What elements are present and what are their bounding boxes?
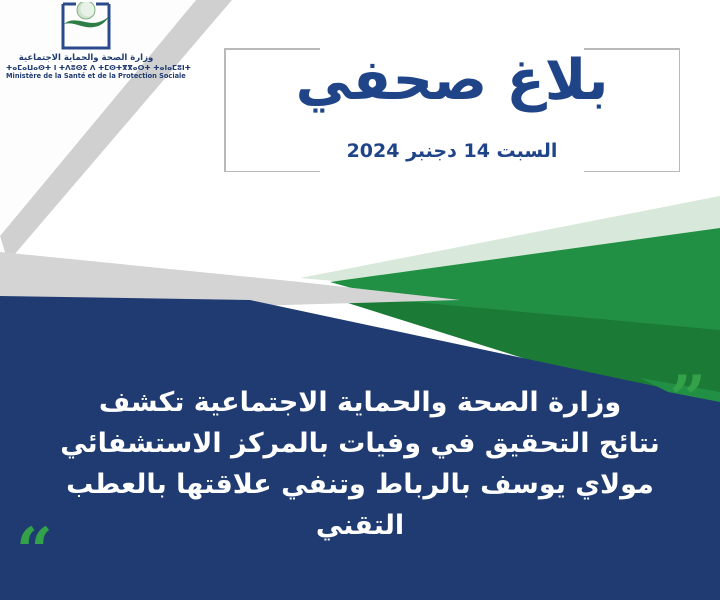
quote-mark-close: ” xyxy=(669,368,706,432)
headline-text: وزارة الصحة والحماية الاجتماعية تكشف نتا… xyxy=(0,382,720,546)
quote-mark-open: “ xyxy=(16,520,53,584)
headline-line-2: نتائج التحقيق في وفيات بالمركز الاستشفائ… xyxy=(34,423,686,464)
headline-line-3: مولاي يوسف بالرباط وتنفي علاقتها بالعطب xyxy=(34,464,686,505)
headline-line-4: التقني xyxy=(34,505,686,546)
title-frame: بلاغ صحفي السبت 14 دجنبر 2024 xyxy=(224,48,680,172)
frame-border-bottom-right xyxy=(584,171,680,173)
frame-border-bottom-left xyxy=(224,171,320,173)
press-release-title: بلاغ صحفي xyxy=(224,52,680,111)
ministry-health-emblem-icon xyxy=(43,2,129,52)
logo-tifinagh-name: ⵜⴰⵎⴰⵡⴰⵙⵜ ⵏ ⵜⴷⵓⵙⵉ ⴷ ⵜⵎⵙⵜⴳⴳⴰⵔⵜ ⵜⴰⵏⴰⵎⵓⵏⵜ xyxy=(6,64,166,73)
logo-french-name: Ministère de la Santé et de la Protectio… xyxy=(6,72,166,80)
ministry-logo: وزارة الصحة والحماية الاجتماعية ⵜⴰⵎⴰⵡⴰⵙⵜ… xyxy=(6,2,166,81)
bottom-white-edge xyxy=(0,600,720,608)
headline-line-1: وزارة الصحة والحماية الاجتماعية تكشف xyxy=(34,382,686,423)
press-release-date: السبت 14 دجنبر 2024 xyxy=(224,140,680,162)
press-release-poster: وزارة الصحة والحماية الاجتماعية ⵜⴰⵎⴰⵡⴰⵙⵜ… xyxy=(0,0,720,608)
